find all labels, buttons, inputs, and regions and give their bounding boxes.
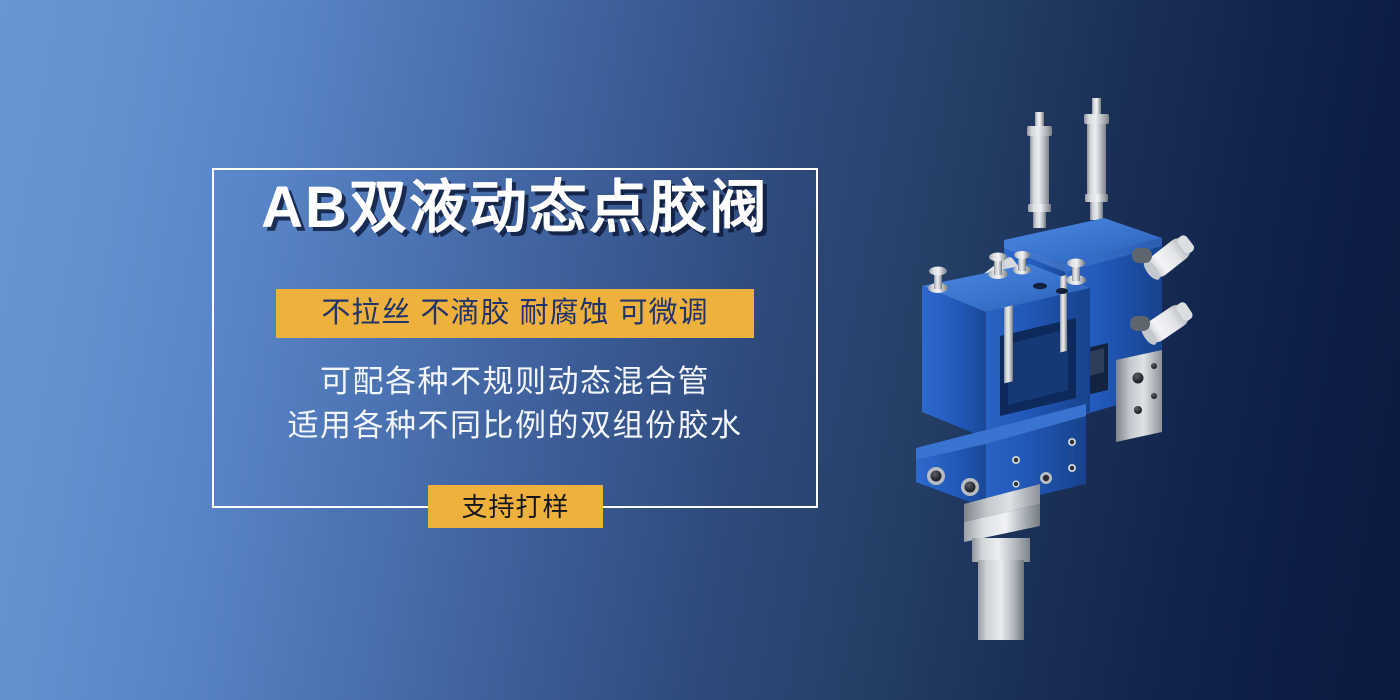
subline-2: 适用各种不同比例的双组份胶水: [212, 404, 818, 448]
fitting-port-upper: [1132, 248, 1152, 263]
sample-badge-label: 支持打样: [461, 494, 569, 520]
side-mounting-plate: [1116, 350, 1162, 442]
feature-badge-label: 不拉丝 不滴胶 耐腐蚀 可微调: [321, 299, 708, 328]
dispensing-valve-illustration: [880, 60, 1280, 640]
subline-1: 可配各种不规则动态混合管: [212, 360, 818, 404]
actuator-cylinders: [1027, 98, 1109, 228]
feature-badge: 不拉丝 不滴胶 耐腐蚀 可微调: [276, 289, 754, 338]
product-image: [880, 60, 1280, 640]
promo-banner: AB双液动态点胶阀 不拉丝 不滴胶 耐腐蚀 可微调 可配各种不规则动态混合管 适…: [0, 0, 1400, 700]
subline-block: 可配各种不规则动态混合管 适用各种不同比例的双组份胶水: [212, 360, 818, 448]
sample-badge: 支持打样: [428, 485, 603, 528]
title-block: AB双液动态点胶阀: [212, 176, 818, 241]
page-title: AB双液动态点胶阀: [212, 176, 818, 241]
mixing-tube-nozzle: [964, 484, 1040, 640]
fitting-port-lower: [1130, 316, 1150, 331]
